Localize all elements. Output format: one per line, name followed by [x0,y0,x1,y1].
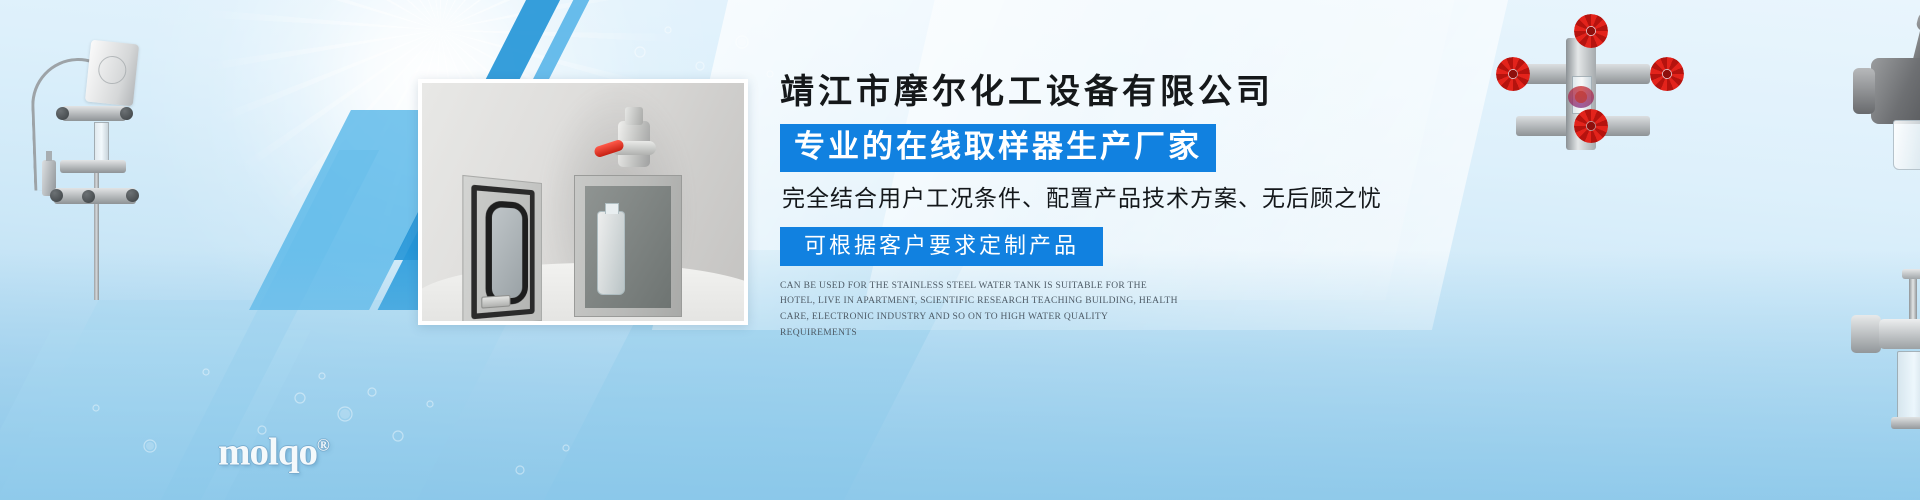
tagline-badge: 可根据客户要求定制产品 [780,227,1103,266]
headline-badge: 专业的在线取样器生产厂家 [780,124,1216,172]
door-latch [481,295,510,309]
sampler-cabinet [574,175,682,317]
brand-logo: molqo® [218,430,330,475]
registered-trademark-icon: ® [317,436,330,455]
subline-text: 完全结合用户工况条件、配置产品技术方案、无后顾之忧 [782,185,1400,213]
promo-banner: 靖江市摩尔化工设备有限公司 专业的在线取样器生产厂家 完全结合用户工况条件、配置… [0,0,1920,500]
banner-text-block: 靖江市摩尔化工设备有限公司 专业的在线取样器生产厂家 完全结合用户工况条件、配置… [780,74,1400,351]
top-sampling-valve [608,107,660,173]
cabinet-door [462,175,542,325]
door-window [486,200,528,306]
english-description: CAN BE USED FOR THE STAINLESS STEEL WATE… [780,279,1180,342]
company-name: 靖江市摩尔化工设备有限公司 [780,74,1400,111]
product-photo [418,79,748,325]
brand-logo-text: molqo [218,431,317,474]
sample-bottle [597,211,625,295]
valve-stem [625,107,643,125]
